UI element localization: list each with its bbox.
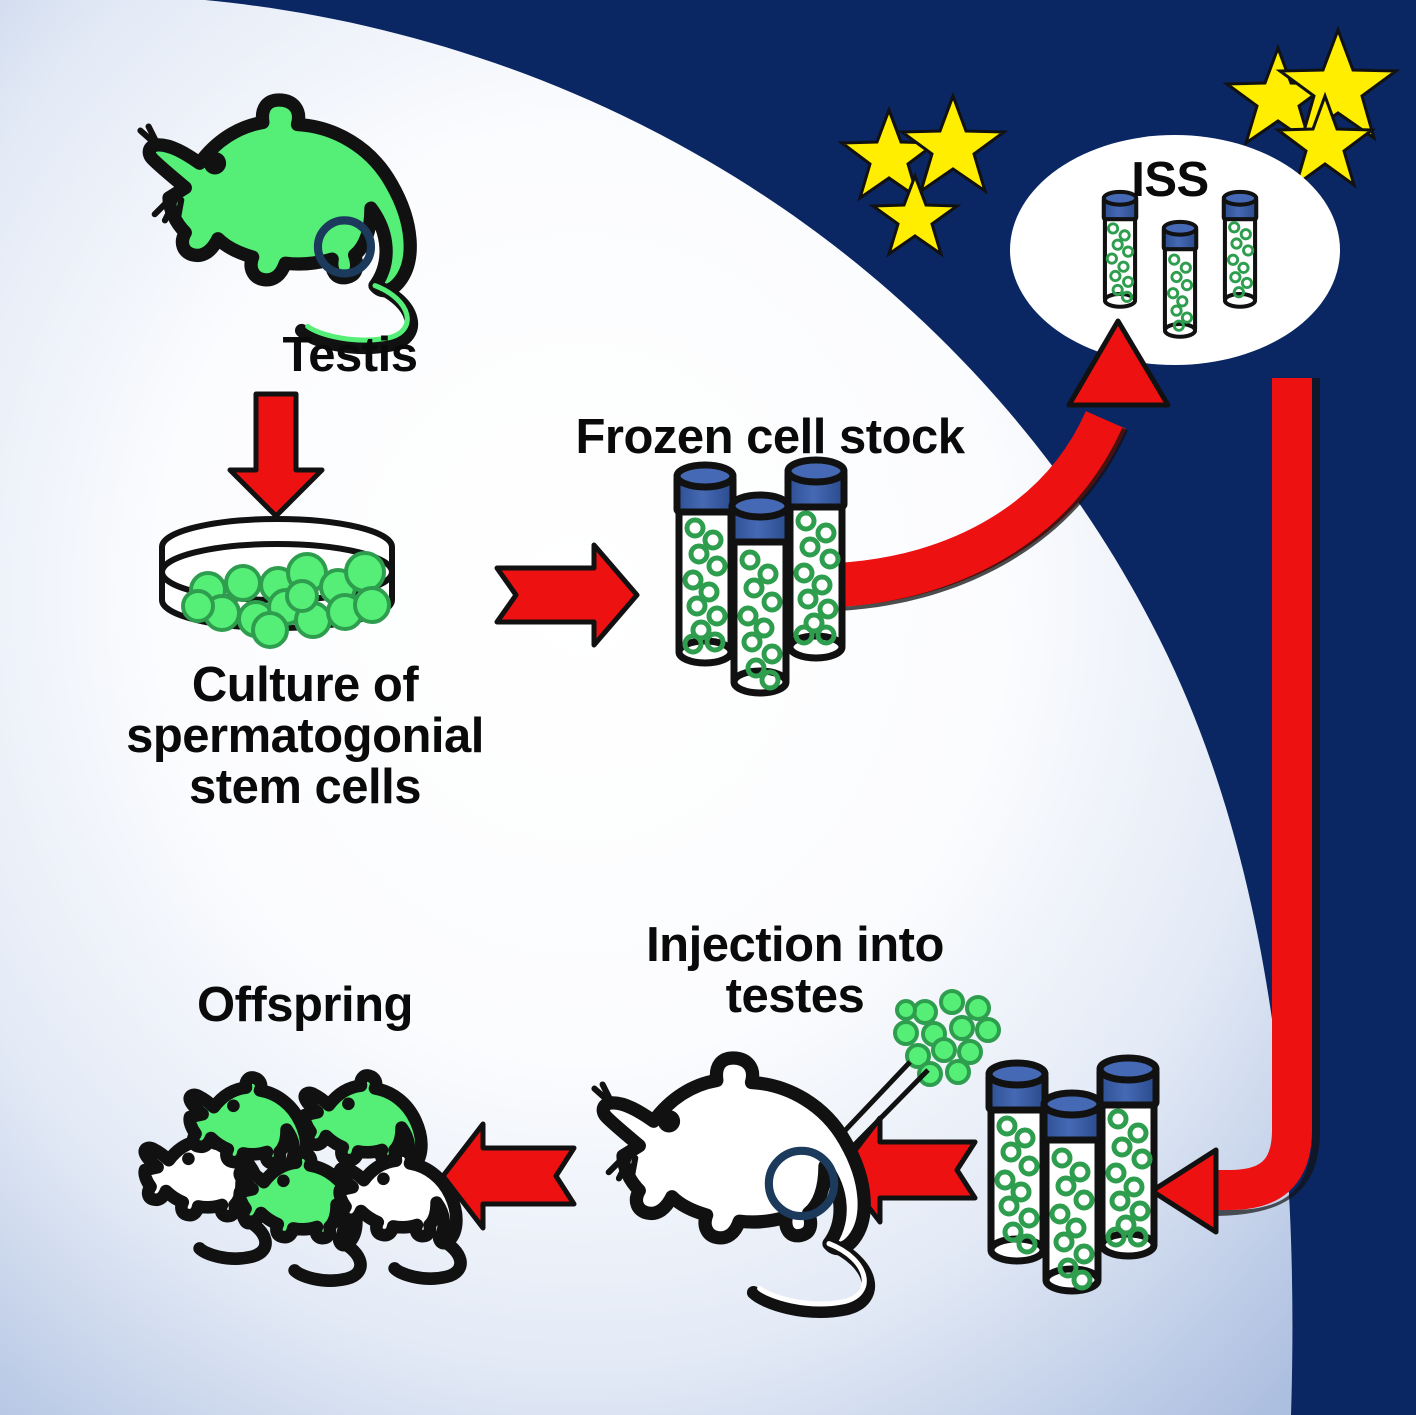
mouse-eye [204, 152, 226, 174]
label-culture: Culture of spermatogonial stem cells [40, 660, 570, 813]
label-iss: ISS [1080, 155, 1260, 206]
label-frozen-stock: Frozen cell stock [450, 412, 1090, 463]
mouse-eye [658, 1110, 680, 1132]
label-injection: Injection into testes [560, 920, 1030, 1022]
label-testis: Testis [190, 330, 510, 381]
frozen-vial-rack[interactable] [677, 460, 844, 693]
label-offspring: Offspring [90, 980, 520, 1031]
returned-vial-rack[interactable] [989, 1058, 1156, 1291]
figure-canvas: Testis Culture of spermatogonial stem ce… [0, 0, 1416, 1415]
